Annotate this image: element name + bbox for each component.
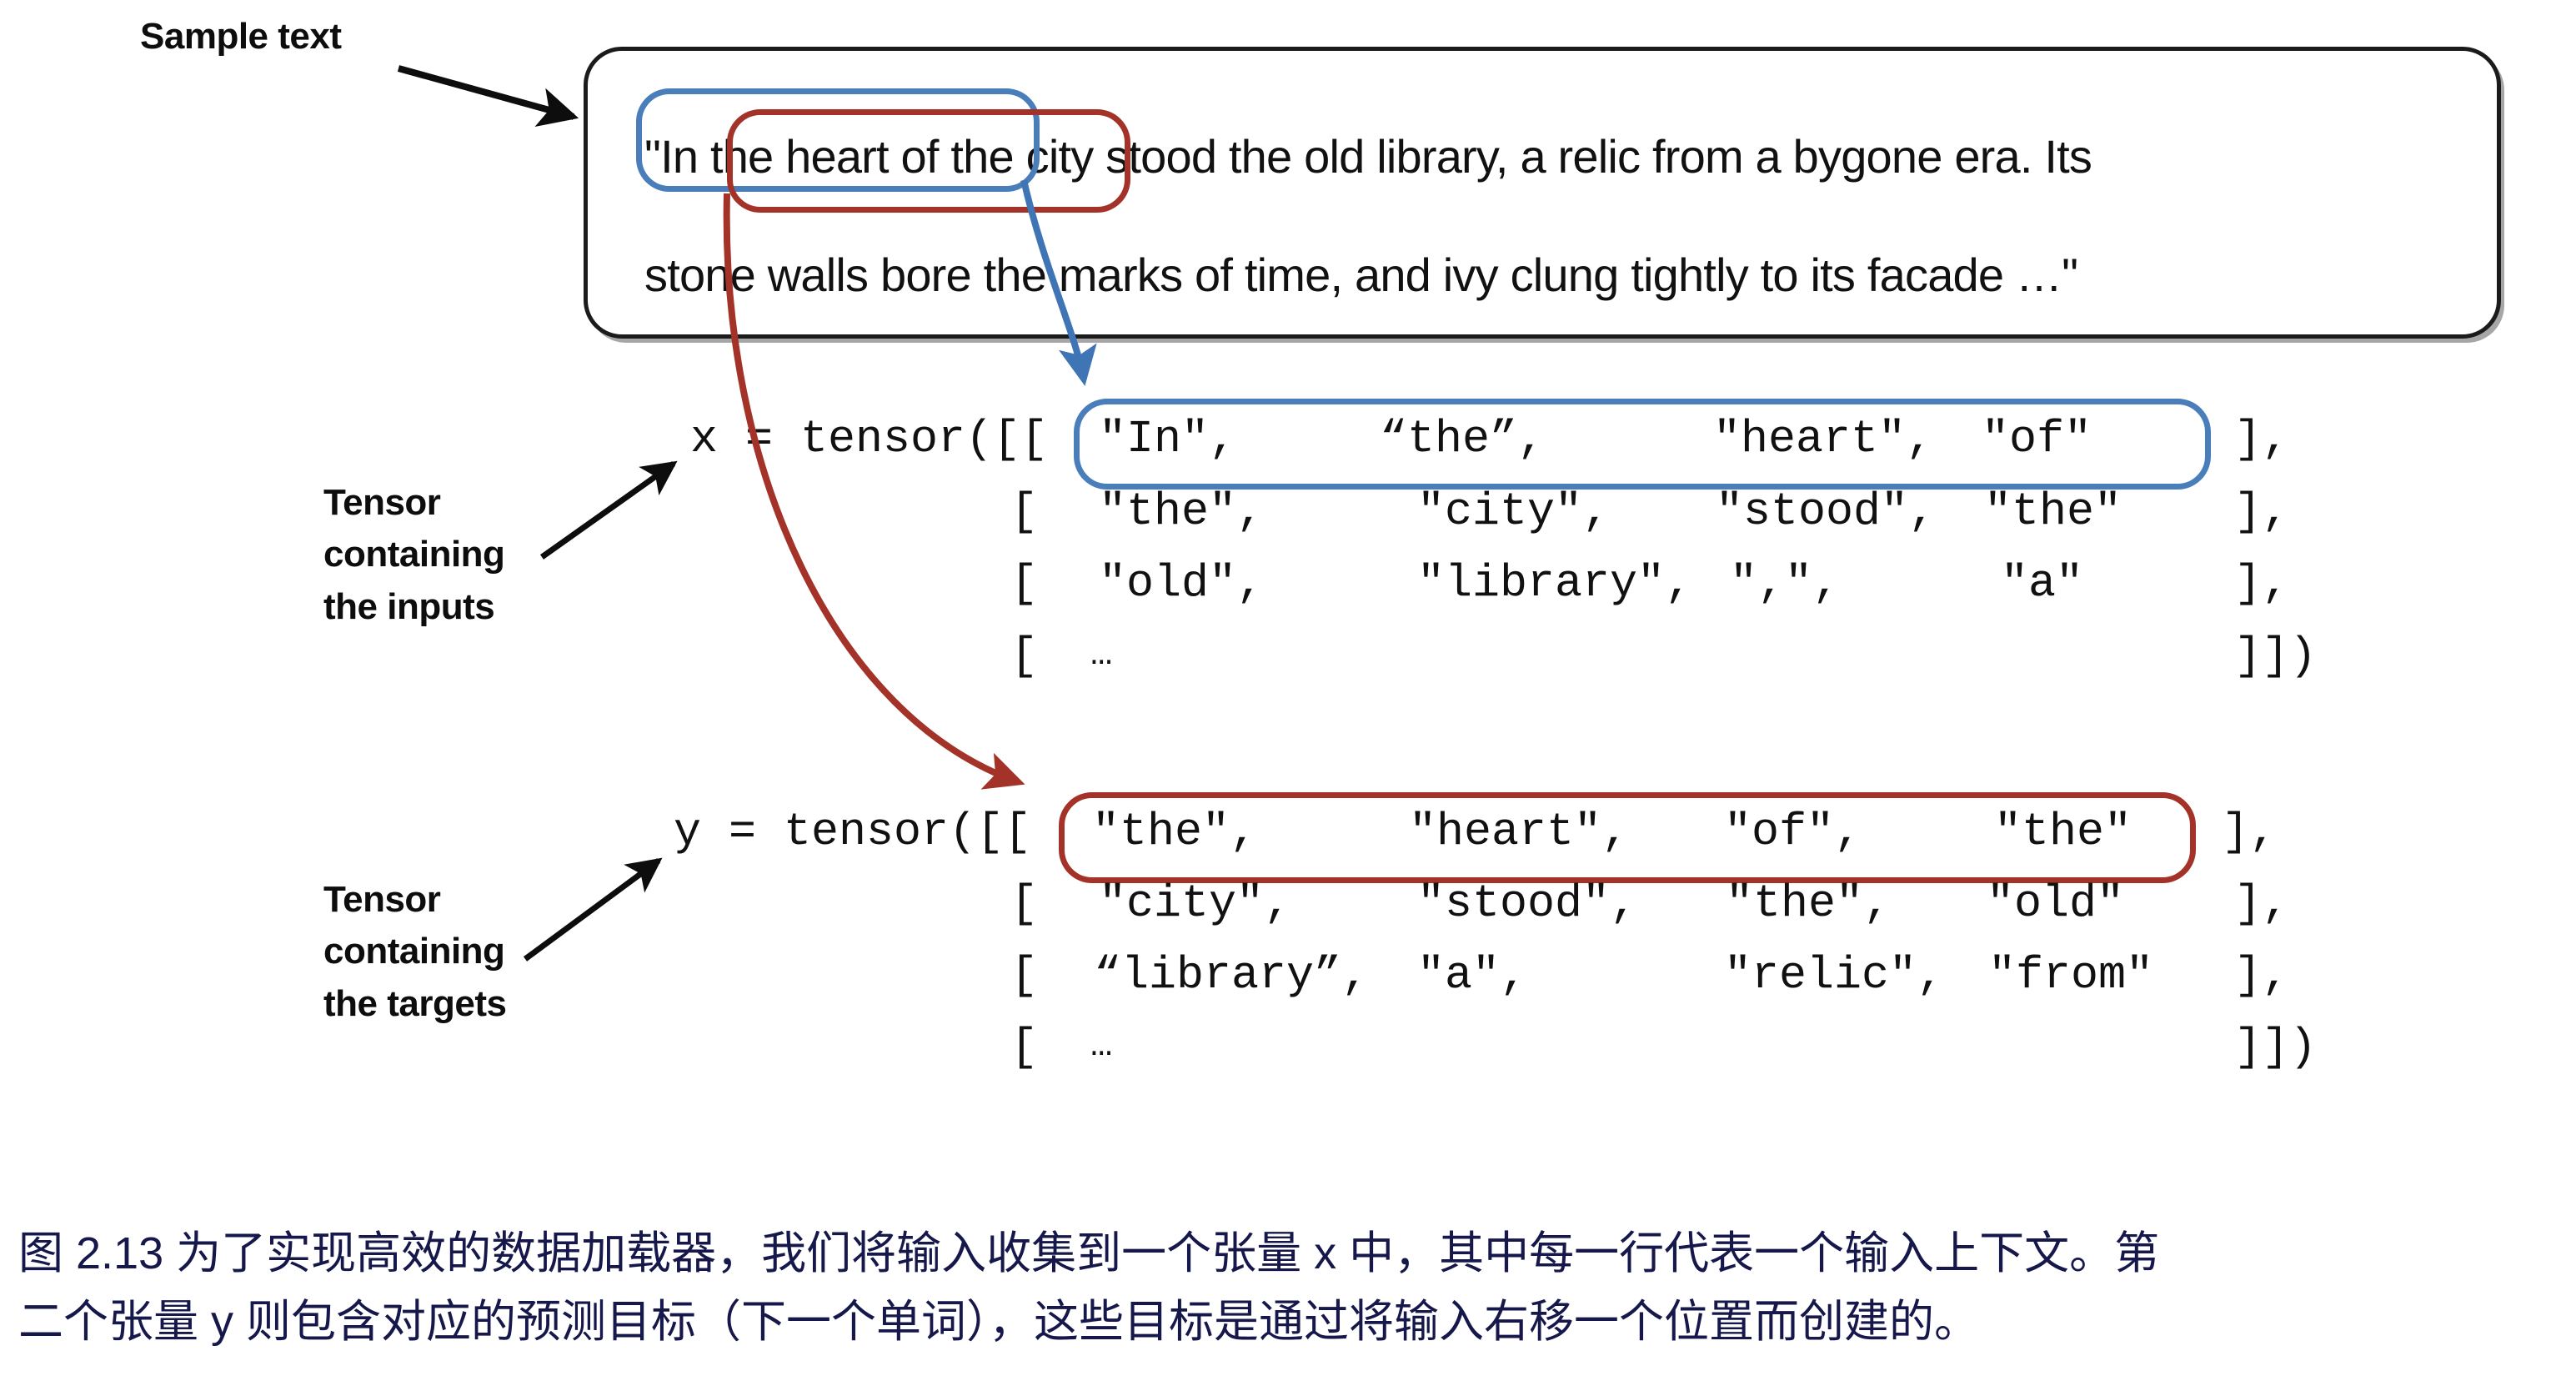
x-row-2-open: [ — [1010, 557, 1038, 610]
annotation-sample-text: Sample text — [140, 18, 341, 55]
x-cell-2-3: "a" — [2001, 557, 2083, 610]
arrow-targets-label-to-y — [525, 861, 659, 959]
figure-caption-line-2: 二个张量 y 则包含对应的预测目标（下一个单词），这些目标是通过将输入右移一个位… — [18, 1288, 2561, 1356]
figure-caption-line-1: 图 2.13 为了实现高效的数据加载器，我们将输入收集到一个张量 x 中，其中每… — [18, 1219, 2561, 1288]
y-cell-2-1: "a", — [1417, 949, 1527, 1002]
y-row-2-close: ], — [2234, 949, 2289, 1002]
y-cell-0-2: "of", — [1724, 806, 1862, 858]
y-cell-2-3: "from" — [1988, 949, 2153, 1002]
x-cell-3-0: … — [1090, 634, 1112, 675]
figure-caption: 图 2.13 为了实现高效的数据加载器，我们将输入收集到一个张量 x 中，其中每… — [18, 1219, 2561, 1356]
y-row-3-open: [ — [1010, 1021, 1038, 1073]
y-cell-0-3: "the" — [1994, 806, 2132, 858]
y-tensor-prefix: y = tensor([[ — [674, 806, 1031, 858]
x-row-2-close: ], — [2234, 557, 2289, 610]
y-cell-1-0: "city", — [1099, 877, 1291, 930]
x-row-3-close: ]]) — [2234, 630, 2317, 682]
x-cell-2-2: ",", — [1730, 557, 1840, 610]
y-cell-2-0: “library”, — [1094, 949, 1369, 1002]
y-cell-0-1: "heart", — [1409, 806, 1629, 858]
x-cell-0-2: "heart", — [1713, 413, 1933, 465]
x-cell-2-1: "library", — [1417, 557, 1692, 610]
y-row-1-open: [ — [1010, 877, 1038, 930]
x-cell-1-1: "city", — [1417, 485, 1610, 538]
x-tensor-prefix: x = tensor([[ — [690, 413, 1048, 465]
x-row-1-close: ], — [2234, 485, 2289, 538]
x-cell-0-3: "of" — [1982, 413, 2092, 465]
x-row-3-open: [ — [1010, 630, 1038, 682]
y-cell-0-0: "the", — [1092, 806, 1257, 858]
figure-canvas: "In the heart of the city stood the old … — [0, 0, 2576, 1391]
x-cell-0-0: "In", — [1099, 413, 1257, 465]
y-cell-1-2: "the", — [1726, 877, 1891, 930]
y-row-1-close: ], — [2234, 877, 2289, 930]
x-cell-1-2: "stood", — [1716, 485, 1936, 538]
arrow-sample-text-to-card — [398, 68, 574, 117]
y-cell-1-3: "old" — [1987, 877, 2124, 930]
annotation-inputs-tensor: Tensor containing the inputs — [323, 477, 504, 633]
sample-text-line-2: stone walls bore the marks of time, and … — [644, 248, 2077, 302]
y-row-2-open: [ — [1010, 949, 1038, 1002]
x-row-1-open: [ — [1010, 485, 1038, 538]
y-cell-1-1: "stood", — [1417, 877, 1637, 930]
highlight-pill-red-sample — [727, 109, 1130, 213]
x-cell-2-0: "old", — [1099, 557, 1264, 610]
x-cell-1-0: "the", — [1099, 485, 1264, 538]
annotation-targets-tensor: Tensor containing the targets — [323, 874, 506, 1030]
x-row-0-close: ], — [2234, 413, 2289, 465]
x-cell-1-3: "the" — [1984, 485, 2122, 538]
arrow-inputs-label-to-x — [542, 464, 674, 557]
y-row-3-close: ]]) — [2234, 1021, 2317, 1073]
y-cell-2-2: "relic", — [1724, 949, 1944, 1002]
x-cell-0-1: “the”, — [1380, 413, 1545, 465]
y-cell-3-0: … — [1090, 1025, 1112, 1067]
y-row-0-close: ], — [2222, 806, 2277, 858]
